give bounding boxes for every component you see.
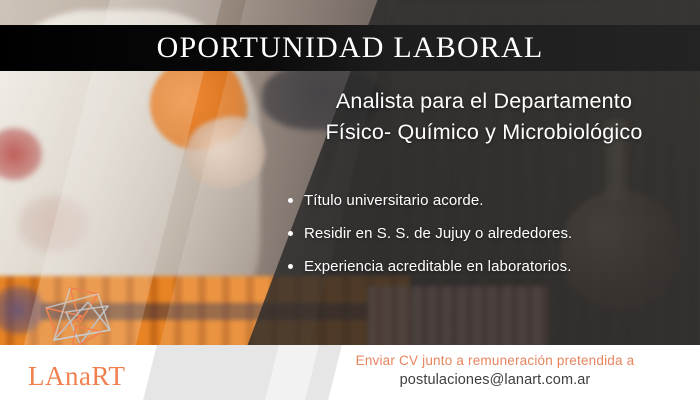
- requirements-list: Título universitario acorde. Residir en …: [282, 192, 686, 276]
- requirement-text: Experiencia acreditable en laboratorios.: [304, 258, 572, 275]
- footer-band: LAnaRT Enviar CV junto a remuneración pr…: [0, 345, 700, 400]
- brand-wordmark: LAnaRT: [28, 361, 125, 392]
- requirement-item: Título universitario acorde.: [304, 192, 686, 210]
- requirement-item: Residir en S. S. de Jujuy o alrededores.: [304, 225, 686, 243]
- job-content: Analista para el Departamento Físico- Qu…: [282, 86, 686, 291]
- bullet-icon: [288, 264, 293, 269]
- bullet-icon: [288, 231, 293, 236]
- photo-pink-sample: [18, 196, 88, 252]
- contact-email[interactable]: postulaciones@lanart.com.ar: [300, 370, 690, 390]
- requirement-text: Residir en S. S. de Jujuy o alrededores.: [304, 225, 572, 242]
- contact-block: Enviar CV junto a remuneración pretendid…: [300, 351, 690, 390]
- abstract-triangles-logo-icon: [36, 282, 140, 350]
- headline-banner: OPORTUNIDAD LABORAL: [0, 25, 700, 71]
- job-title-line-2: Físico- Químico y Microbiológico: [282, 117, 686, 148]
- brand-logo-mark: [36, 282, 140, 350]
- job-title: Analista para el Departamento Físico- Qu…: [282, 86, 686, 148]
- bullet-icon: [288, 198, 293, 203]
- headline-text: OPORTUNIDAD LABORAL: [157, 31, 544, 65]
- requirement-item: Experiencia acreditable en laboratorios.: [304, 258, 686, 276]
- contact-instruction: Enviar CV junto a remuneración pretendid…: [300, 351, 690, 370]
- photo-sample-tubes: [368, 286, 548, 350]
- requirement-text: Título universitario acorde.: [304, 192, 484, 209]
- job-posting-poster: OPORTUNIDAD LABORAL Analista para el Dep…: [0, 0, 700, 400]
- job-title-line-1: Analista para el Departamento: [282, 86, 686, 117]
- footer-content: LAnaRT Enviar CV junto a remuneración pr…: [0, 345, 700, 400]
